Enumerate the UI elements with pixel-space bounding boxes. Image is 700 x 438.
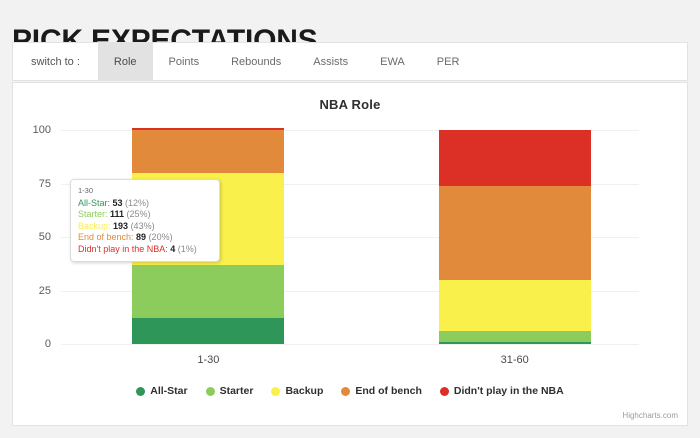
chart-panel: NBA Role 02550751001-3031-60 1-30 All-St…	[12, 82, 688, 426]
legend-label: Didn't play in the NBA	[454, 385, 564, 397]
legend-color-dot-icon	[136, 387, 145, 396]
tooltip-row-name: Didn't play in the NBA:	[78, 244, 170, 254]
tooltip-row: All-Star: 53 (12%)	[78, 198, 212, 210]
tooltip-row: Backup: 193 (43%)	[78, 221, 212, 233]
y-axis-tick-label: 100	[33, 124, 51, 136]
tooltip-row-value: 111	[110, 209, 124, 219]
y-axis-tick-label: 25	[39, 285, 51, 297]
tooltip-row: Starter: 111 (25%)	[78, 209, 212, 221]
tooltip-row-value: 89	[136, 232, 146, 242]
tooltip-row-value: 53	[113, 198, 123, 208]
legend-label: All-Star	[150, 385, 187, 397]
chart-title: NBA Role	[13, 97, 687, 112]
legend-item[interactable]: Didn't play in the NBA	[440, 385, 564, 397]
y-axis-tick-label: 50	[39, 231, 51, 243]
tooltip-rows: All-Star: 53 (12%)Starter: 111 (25%)Back…	[78, 198, 212, 256]
tooltip-row-percent: (12%)	[123, 198, 150, 208]
legend-color-dot-icon	[271, 387, 280, 396]
tab-bar: switch to : Role Points Rebounds Assists…	[12, 42, 688, 81]
tooltip-row: Didn't play in the NBA: 4 (1%)	[78, 244, 212, 256]
tooltip-row-percent: (25%)	[124, 209, 151, 219]
bar-segment[interactable]	[439, 331, 591, 342]
legend-label: Starter	[220, 385, 254, 397]
legend-color-dot-icon	[440, 387, 449, 396]
tooltip-row-percent: (20%)	[146, 232, 173, 242]
tooltip-row-name: Starter:	[78, 209, 110, 219]
bar-segment[interactable]	[132, 130, 284, 173]
tab-per[interactable]: PER	[421, 43, 476, 80]
legend-item[interactable]: Backup	[271, 385, 323, 397]
bar-segment[interactable]	[439, 130, 591, 186]
x-axis-tick-label: 31-60	[439, 354, 591, 366]
tab-assists[interactable]: Assists	[297, 43, 364, 80]
highcharts-credit[interactable]: Highcharts.com	[622, 411, 678, 420]
legend-item[interactable]: Starter	[206, 385, 254, 397]
bar-stack[interactable]	[439, 130, 591, 344]
bar-segment[interactable]	[439, 342, 591, 344]
tooltip-row-name: Backup:	[78, 221, 113, 231]
tooltip-row-percent: (1%)	[175, 244, 197, 254]
legend-color-dot-icon	[206, 387, 215, 396]
legend-item[interactable]: All-Star	[136, 385, 187, 397]
tab-role[interactable]: Role	[98, 43, 153, 80]
bar-segment[interactable]	[439, 186, 591, 280]
app-root: PICK EXPECTATIONS switch to : Role Point…	[0, 0, 700, 438]
bar-segment[interactable]	[439, 280, 591, 331]
tooltip-row-percent: (43%)	[128, 221, 155, 231]
y-axis-tick-label: 75	[39, 178, 51, 190]
legend-label: End of bench	[355, 385, 422, 397]
tooltip-row: End of bench: 89 (20%)	[78, 232, 212, 244]
bar-segment[interactable]	[132, 128, 284, 130]
tooltip-row-name: End of bench:	[78, 232, 136, 242]
tooltip-row-value: 193	[113, 221, 128, 231]
gridline	[61, 344, 639, 345]
legend-color-dot-icon	[341, 387, 350, 396]
chart-legend: All-StarStarterBackupEnd of benchDidn't …	[13, 385, 687, 397]
bar-segment[interactable]	[132, 265, 284, 319]
switch-to-label: switch to :	[13, 43, 98, 80]
x-axis-tick-label: 1-30	[132, 354, 284, 366]
tab-ewa[interactable]: EWA	[364, 43, 421, 80]
bar-segment[interactable]	[132, 318, 284, 344]
legend-item[interactable]: End of bench	[341, 385, 422, 397]
tab-points[interactable]: Points	[153, 43, 216, 80]
tooltip-row-name: All-Star:	[78, 198, 113, 208]
tab-rebounds[interactable]: Rebounds	[215, 43, 297, 80]
y-axis-tick-label: 0	[45, 338, 51, 350]
tooltip-header: 1-30	[78, 185, 212, 197]
chart-tooltip: 1-30 All-Star: 53 (12%)Starter: 111 (25%…	[70, 179, 220, 262]
legend-label: Backup	[285, 385, 323, 397]
